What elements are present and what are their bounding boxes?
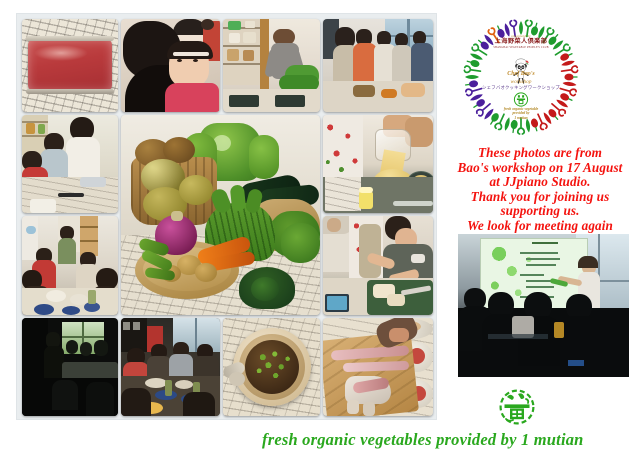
logo-stamp-spacer — [481, 91, 561, 107]
footer-caption: fresh organic vegetables provided by 1 m… — [262, 430, 634, 450]
photo-claypot-dish — [223, 318, 320, 416]
photo-collage-grid — [22, 19, 431, 414]
photo-vegetable-spread — [121, 115, 320, 315]
thank-you-message: These photos are from Bao's workshop on … — [443, 146, 637, 234]
photo-dining-group — [22, 216, 118, 315]
photo-fish-filleting — [323, 318, 433, 416]
message-line-3: at JJpiano Studio. — [443, 175, 637, 190]
photo-presentation-room — [458, 234, 629, 377]
photo-man-with-greens — [223, 19, 320, 112]
message-line-5: supporting us. — [443, 204, 637, 219]
logo-japanese-line: シェフバオクッキングワークショップ — [481, 85, 561, 91]
photo-dark-room-class — [22, 318, 118, 416]
logo-text-block: organized by 上海野菜人倶楽部 SHANGHAI VEGETABLE… — [481, 34, 561, 120]
photo-group-prep-table — [323, 19, 433, 112]
photo-collage-frame — [16, 13, 437, 420]
message-line-1: These photos are from — [443, 146, 637, 161]
photo-mother-and-child — [121, 19, 220, 112]
logo-chef-line: Chef Bao's — [481, 71, 561, 79]
logo-mascot-spacer — [481, 49, 561, 71]
mutian-farm-stamp — [498, 388, 536, 426]
message-line-6: We look for meeting again — [443, 219, 637, 234]
photo-boy-chopping — [323, 216, 433, 315]
chef-bao-workshop-logo: organized by 上海野菜人倶楽部 SHANGHAI VEGETABLE… — [462, 18, 580, 136]
photo-long-table-meal — [121, 318, 220, 416]
photo-three-women-prep — [22, 115, 118, 213]
logo-fresh-line-3: 1 mutian — [481, 116, 561, 120]
message-line-4: Thank you for joining us — [443, 190, 637, 205]
photo-jelly-tray — [22, 19, 118, 112]
logo-club-name-cn: 上海野菜人倶楽部 — [481, 38, 561, 46]
photo-pouring-batter — [323, 115, 433, 213]
message-line-2: Bao's workshop on 17 August — [443, 161, 637, 176]
